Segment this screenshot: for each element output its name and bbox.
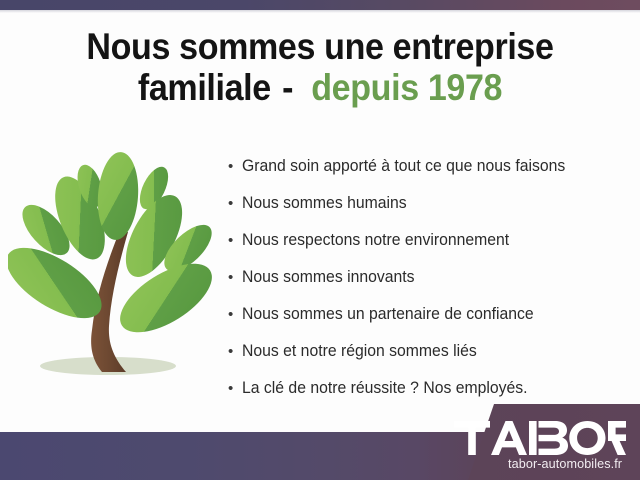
brand-url: tabor-automobiles.fr (449, 456, 626, 472)
list-item: • Nous sommes un partenaire de confiance (228, 296, 628, 333)
slide-headline: Nous sommes une entreprise familiale - d… (26, 26, 615, 108)
list-item: • Nous et notre région sommes liés (228, 333, 628, 370)
bullet-icon: • (228, 370, 242, 407)
tree-illustration-svg (8, 148, 220, 388)
list-item-label: Nous sommes un partenaire de confiance (242, 296, 534, 333)
slide-footer: tabor-automobiles.fr (0, 403, 640, 480)
bullet-icon: • (228, 259, 242, 296)
list-item-label: Nous sommes humains (242, 185, 407, 222)
list-item-label: Nous sommes innovants (242, 259, 415, 296)
list-item-label: La clé de notre réussite ? Nos employés. (242, 370, 528, 407)
list-item: • Nous sommes innovants (228, 259, 628, 296)
brand-logo[interactable]: tabor-automobiles.fr (444, 421, 626, 472)
headline-dash: - (282, 67, 293, 108)
list-item-label: Nous et notre région sommes liés (242, 333, 477, 370)
list-item-label: Grand soin apporté à tout ce que nous fa… (242, 148, 565, 185)
tabor-wordmark-icon (454, 421, 626, 455)
benefits-list: • Grand soin apporté à tout ce que nous … (228, 148, 628, 407)
bullet-icon: • (228, 333, 242, 370)
list-item-label: Nous respectons notre environnement (242, 222, 509, 259)
list-item: • Nous respectons notre environnement (228, 222, 628, 259)
top-accent-strip (0, 0, 640, 10)
slide-canvas: Nous sommes une entreprise familiale - d… (0, 0, 640, 480)
bullet-icon: • (228, 148, 242, 185)
list-item: • Grand soin apporté à tout ce que nous … (228, 148, 628, 185)
headline-line-2-prefix: familiale (138, 67, 271, 108)
list-item: • La clé de notre réussite ? Nos employé… (228, 370, 628, 407)
bullet-icon: • (228, 185, 242, 222)
tree-illustration (8, 148, 220, 388)
bullet-icon: • (228, 222, 242, 259)
top-accent-strip-shadow (0, 10, 640, 13)
list-item: • Nous sommes humains (228, 185, 628, 222)
headline-accent-text: depuis 1978 (311, 67, 502, 108)
headline-line-1: Nous sommes une entreprise (86, 26, 553, 67)
bullet-icon: • (228, 296, 242, 333)
footer-left-band (0, 432, 455, 480)
